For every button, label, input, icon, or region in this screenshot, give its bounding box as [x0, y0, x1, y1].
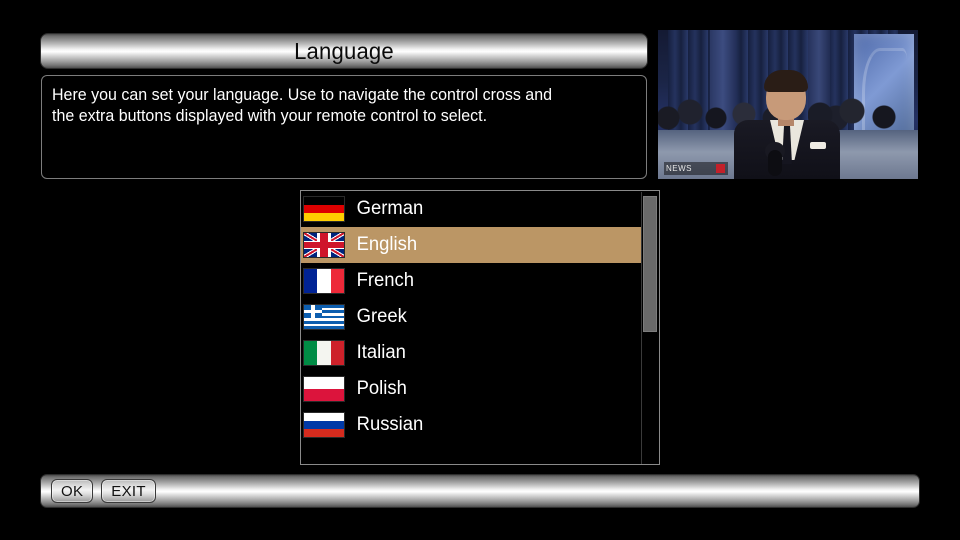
preview-channel-logo-text: NEWS	[664, 164, 692, 173]
live-tv-preview[interactable]: NEWS	[658, 30, 918, 179]
flag-russia-icon	[303, 412, 345, 438]
language-list-item-label: English	[345, 234, 417, 256]
preview-channel-logo-mark	[716, 164, 725, 173]
language-list: GermanEnglishFrenchGreekItalianPolishRus…	[301, 191, 642, 443]
language-list-panel[interactable]: GermanEnglishFrenchGreekItalianPolishRus…	[300, 190, 660, 465]
language-list-item-english[interactable]: English	[301, 227, 642, 263]
language-list-item-french[interactable]: French	[301, 263, 642, 299]
language-list-item-greek[interactable]: Greek	[301, 299, 642, 335]
language-list-item-label: German	[345, 198, 423, 220]
language-list-item-polish[interactable]: Polish	[301, 371, 642, 407]
tv-settings-screen: Language Here you can set your language.…	[0, 0, 960, 540]
help-description-panel: Here you can set your language. Use to n…	[41, 75, 647, 179]
language-list-item-label: Russian	[345, 414, 423, 436]
flag-france-icon	[303, 268, 345, 294]
preview-channel-logo: NEWS	[664, 162, 728, 175]
preview-reporter-hair	[764, 70, 808, 92]
language-list-item-german[interactable]: German	[301, 191, 642, 227]
language-list-item-russian[interactable]: Russian	[301, 407, 642, 443]
language-list-scrollbar[interactable]	[641, 192, 658, 465]
preview-pocket-square	[810, 142, 826, 149]
language-list-item-label: French	[345, 270, 414, 292]
exit-button[interactable]: EXIT	[101, 479, 156, 503]
flag-poland-icon	[303, 376, 345, 402]
flag-italy-icon	[303, 340, 345, 366]
flag-germany-icon	[303, 196, 345, 222]
page-title: Language	[294, 38, 394, 65]
language-list-item-label: Italian	[345, 342, 406, 364]
command-bar: OKEXIT	[40, 474, 920, 508]
language-list-scroll-thumb[interactable]	[643, 196, 657, 332]
preview-microphone-body	[768, 150, 782, 176]
flag-united-kingdom-icon	[303, 232, 345, 258]
language-list-item-italian[interactable]: Italian	[301, 335, 642, 371]
language-list-item-label: Polish	[345, 378, 407, 400]
ok-button[interactable]: OK	[51, 479, 93, 503]
language-list-item-label: Greek	[345, 306, 407, 328]
help-description-text: Here you can set your language. Use to n…	[52, 85, 617, 127]
window-title-bar: Language	[40, 33, 648, 69]
flag-greece-icon	[303, 304, 345, 330]
